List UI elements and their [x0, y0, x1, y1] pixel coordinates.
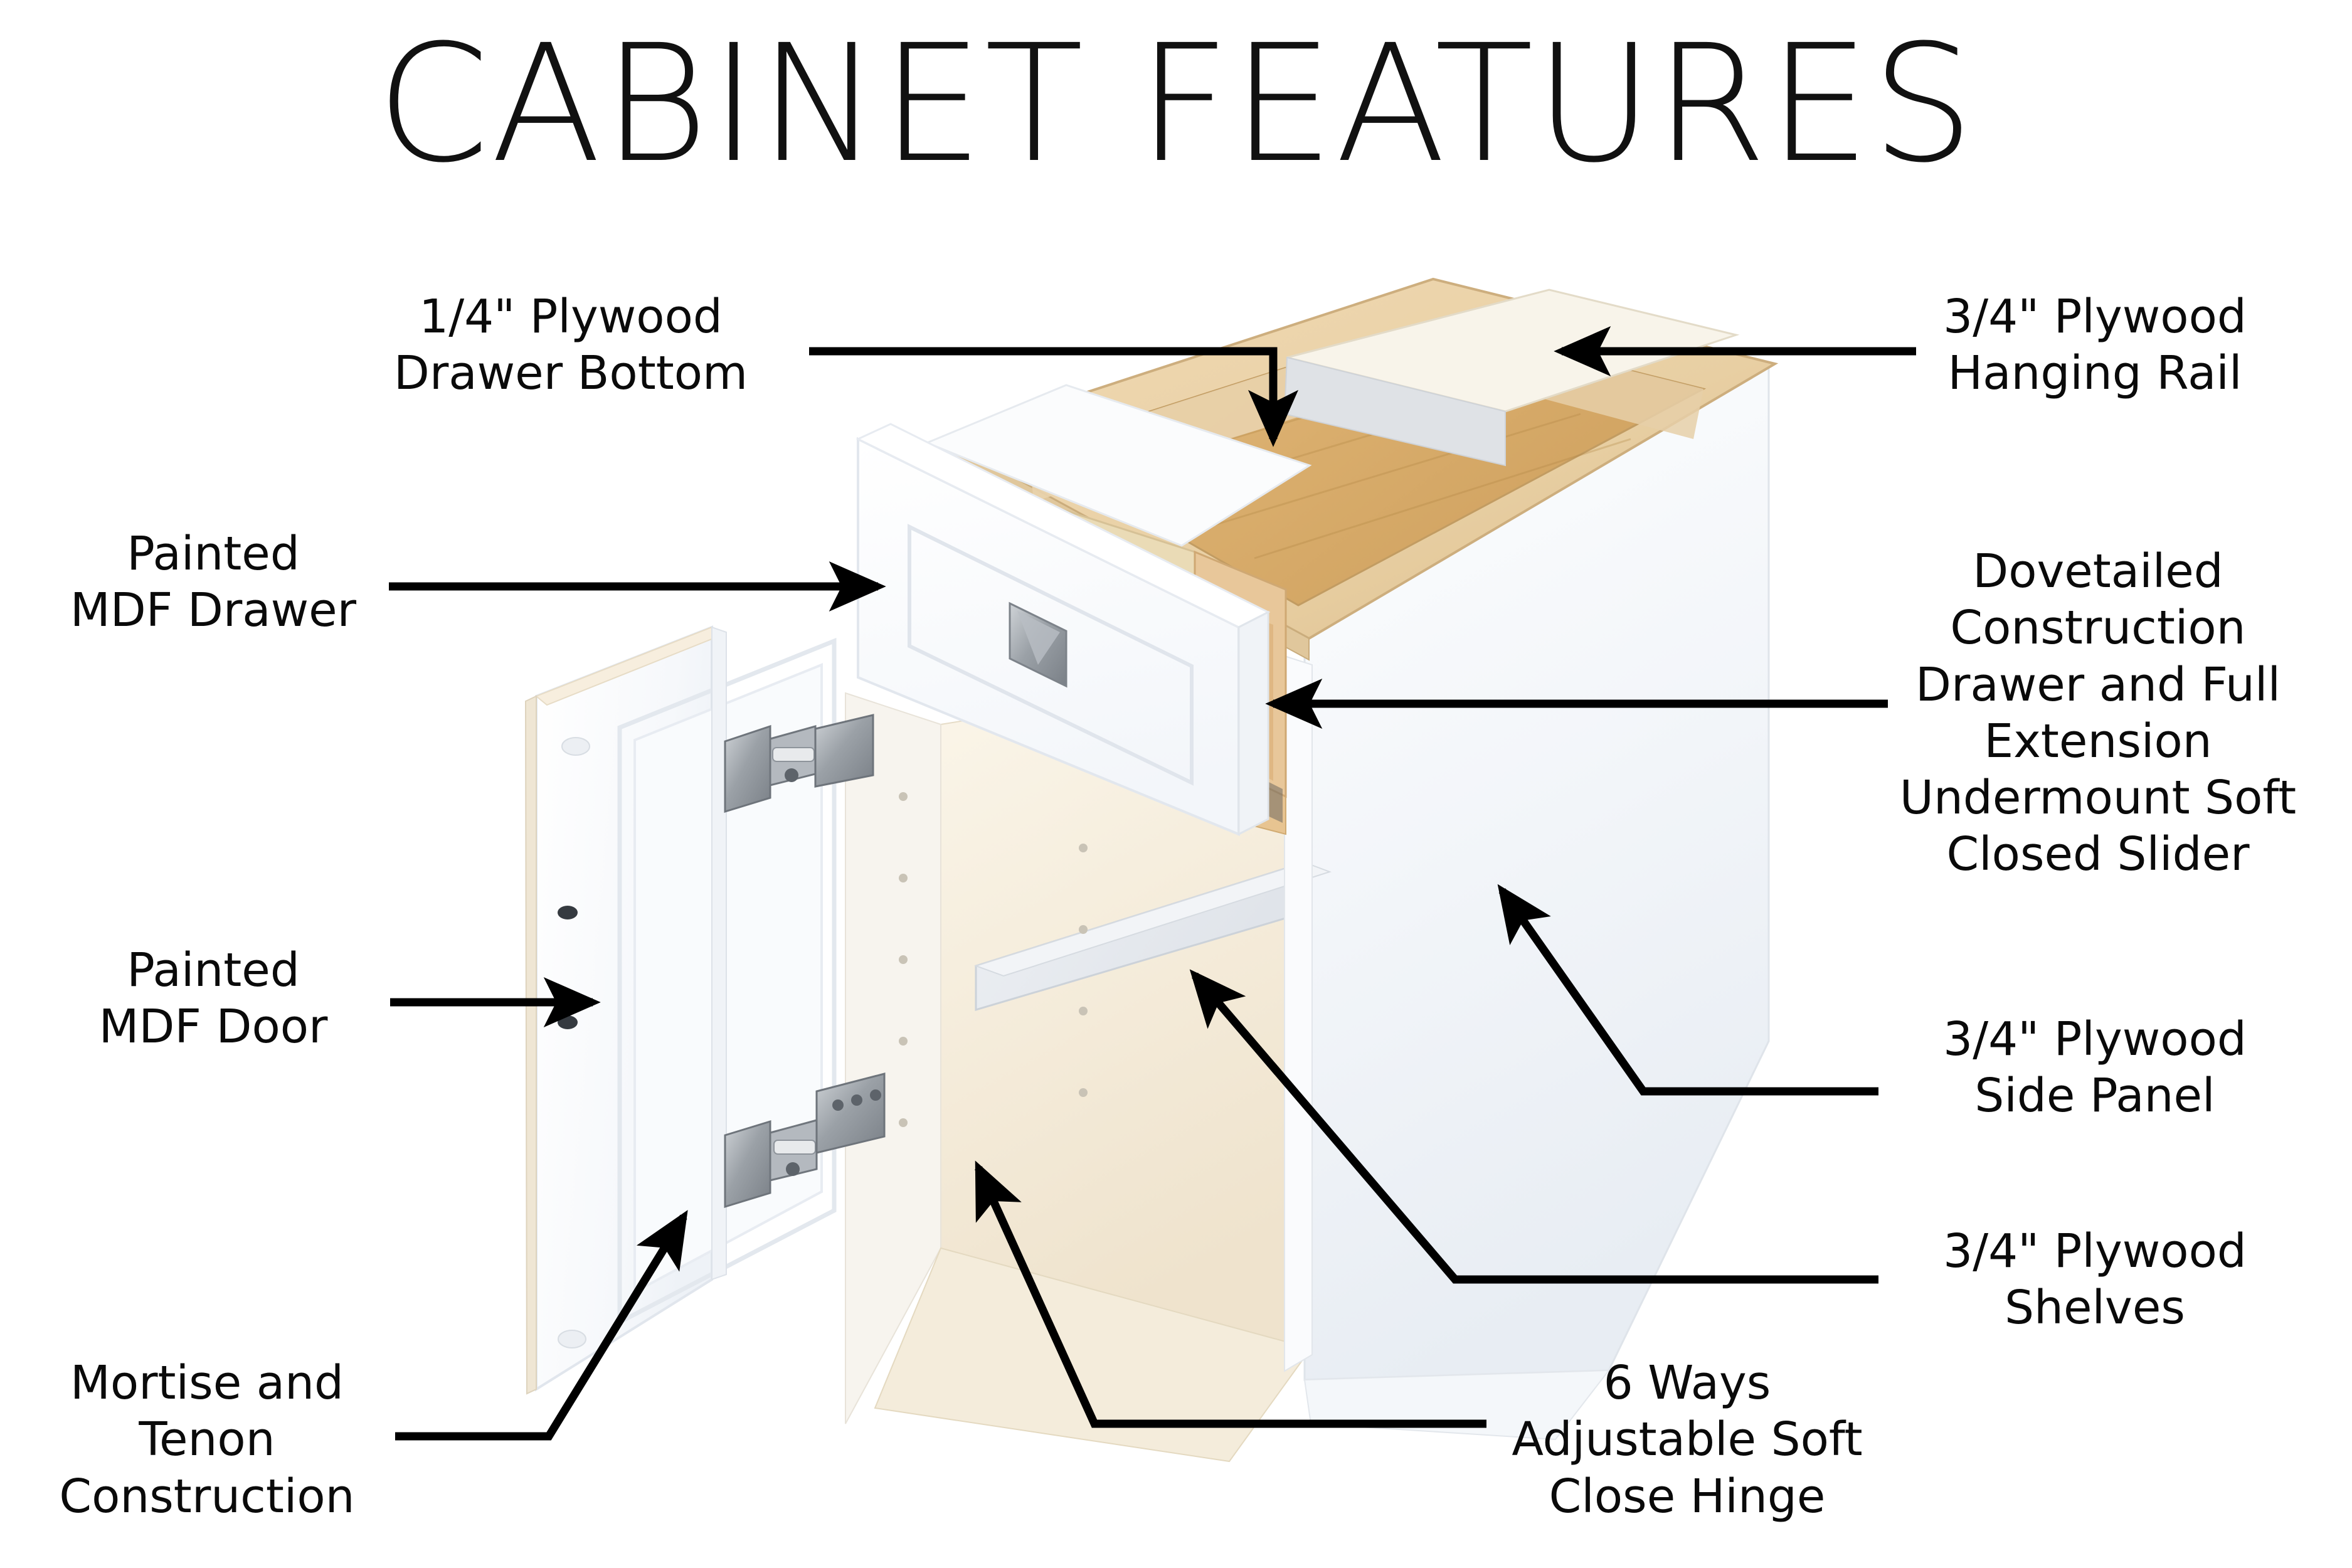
callout-shelves: 3/4" Plywood Shelves	[1878, 1223, 2311, 1337]
callout-drawer-bottom: 1/4" Plywood Drawer Bottom	[351, 289, 790, 402]
callout-dovetail-slider: Dovetailed Construction Drawer and Full …	[1875, 543, 2321, 883]
callout-mortise-tenon: Mortise and Tenon Construction	[13, 1355, 401, 1525]
door-left-edge	[526, 696, 536, 1394]
callout-hanging-rail: 3/4" Plywood Hanging Rail	[1882, 289, 2308, 402]
callout-hinge: 6 Ways Adjustable Soft Close Hinge	[1480, 1355, 1894, 1525]
callout-side-panel: 3/4" Plywood Side Panel	[1882, 1011, 2308, 1125]
cabinet-front-stile	[1285, 656, 1312, 1371]
cabinet-body	[845, 279, 1775, 1461]
infographic-canvas: CABINET FEATURES	[0, 0, 2352, 1568]
callout-painted-door: Painted MDF Door	[25, 942, 401, 1056]
drawer-front-right-edge	[1239, 612, 1268, 834]
callout-painted-drawer: Painted MDF Drawer	[25, 526, 401, 639]
